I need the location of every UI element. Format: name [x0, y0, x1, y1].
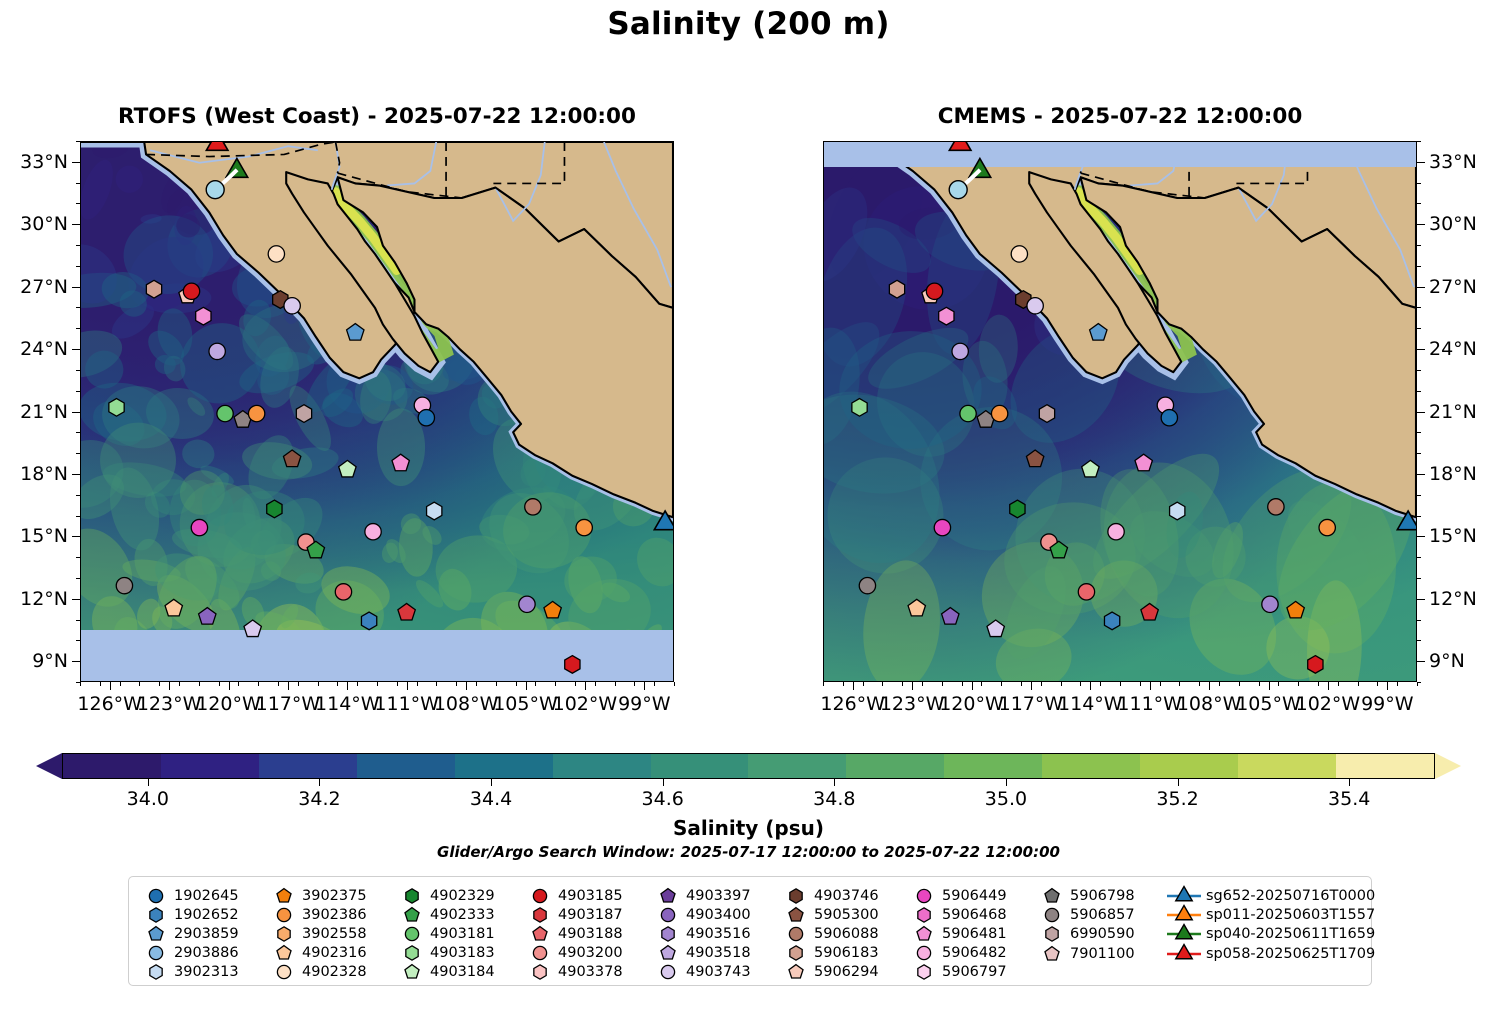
- x-axis-minor-tick: [674, 682, 675, 686]
- argo-float-marker[interactable]: [296, 405, 311, 423]
- y-axis-minor-tick: [1417, 620, 1421, 621]
- x-axis-tick-label: 108°W: [434, 693, 499, 715]
- argo-float-marker[interactable]: [1161, 410, 1177, 426]
- legend-item[interactable]: 3902386: [269, 905, 397, 924]
- colorbar-tick-label: 35.0: [985, 788, 1027, 810]
- legend-item-label: 5906294: [811, 964, 879, 980]
- argo-float-marker[interactable]: [191, 519, 207, 535]
- legend-marker-circle-icon: [141, 886, 171, 905]
- y-axis-minor-tick: [1417, 536, 1421, 537]
- legend-column: 49031854903187490318849032004903378: [525, 886, 653, 976]
- legend-item-label: 4903400: [683, 907, 751, 923]
- argo-float-marker[interactable]: [427, 502, 442, 520]
- x-axis-minor-tick: [981, 682, 982, 686]
- legend-marker-circle-icon: [525, 886, 555, 905]
- x-axis-minor-tick: [1140, 682, 1141, 686]
- glider-position-marker[interactable]: [654, 511, 673, 530]
- legend-item[interactable]: 4903516: [653, 924, 781, 943]
- legend-marker-pentagon-icon: [781, 962, 811, 981]
- x-axis-minor-tick: [882, 682, 883, 686]
- colorbar-tick: [663, 779, 664, 786]
- argo-float-marker[interactable]: [284, 298, 300, 314]
- legend-marker-triangle-line-icon: [1165, 886, 1203, 905]
- x-axis-tick: [1150, 682, 1151, 690]
- legend-marker-circle-icon: [781, 924, 811, 943]
- y-axis-minor-tick: [76, 620, 80, 621]
- legend-item-label: 5906857: [1067, 907, 1135, 923]
- y-axis-minor-tick: [76, 474, 80, 475]
- y-axis-tick-label: 15°N: [1429, 525, 1497, 547]
- legend-item-label: 4903518: [683, 945, 751, 961]
- argo-float-marker[interactable]: [268, 246, 284, 262]
- argo-float-marker[interactable]: [267, 500, 282, 518]
- x-axis-minor-tick: [100, 682, 101, 686]
- argo-float-marker[interactable]: [1135, 454, 1152, 471]
- argo-float-marker[interactable]: [859, 577, 875, 593]
- legend-item[interactable]: 4903397: [653, 886, 781, 905]
- argo-float-marker[interactable]: [576, 519, 592, 535]
- legend-item[interactable]: 1902652: [141, 905, 269, 924]
- colorbar-band: [651, 754, 749, 778]
- argo-float-marker[interactable]: [1010, 500, 1025, 518]
- legend-item-label: 4903187: [555, 907, 623, 923]
- argo-float-marker[interactable]: [1141, 603, 1158, 620]
- x-axis-tick: [1090, 682, 1091, 690]
- legend-item-label: sp040-20250611T1659: [1203, 926, 1375, 942]
- platform-marker-layer[interactable]: [81, 142, 673, 681]
- legend-marker-circle-icon: [269, 905, 299, 924]
- argo-float-marker[interactable]: [544, 601, 561, 618]
- legend-column: 59064495906468590648159064825906797: [909, 886, 1037, 976]
- x-axis-minor-tick: [258, 682, 259, 686]
- argo-float-marker[interactable]: [183, 283, 199, 299]
- legend-marker-pentagon-icon: [269, 943, 299, 962]
- legend-marker-hexagon-icon: [781, 943, 811, 962]
- colorbar-tick-label: 35.2: [1156, 788, 1198, 810]
- x-axis-minor-tick: [417, 682, 418, 686]
- argo-float-marker[interactable]: [960, 405, 976, 421]
- argo-float-marker[interactable]: [1011, 246, 1027, 262]
- argo-float-marker[interactable]: [248, 405, 264, 421]
- argo-float-marker[interactable]: [1090, 324, 1107, 341]
- y-axis-minor-tick: [1417, 661, 1421, 662]
- x-axis-tick-label: 105°W: [493, 693, 558, 715]
- legend-marker-pentagon-icon: [141, 924, 171, 943]
- argo-float-marker[interactable]: [209, 343, 225, 359]
- colorbar-band: [748, 754, 846, 778]
- x-axis-tick: [972, 682, 973, 690]
- y-axis-minor-tick: [76, 495, 80, 496]
- legend-item[interactable]: 4903400: [653, 905, 781, 924]
- x-axis-minor-tick: [555, 682, 556, 686]
- argo-float-marker[interactable]: [335, 584, 351, 600]
- x-axis-tick: [1387, 682, 1388, 690]
- platform-legend[interactable]: 1902645190265229038592903886390231339023…: [128, 876, 1372, 986]
- colorbar-tick-label: 34.4: [470, 788, 512, 810]
- x-axis-minor-tick: [654, 682, 655, 686]
- legend-item[interactable]: sp058-20250625T1709: [1165, 944, 1380, 963]
- legend-item[interactable]: 4903187: [525, 905, 653, 924]
- x-axis-minor-tick: [1120, 682, 1121, 686]
- x-axis-tick-label: 117°W: [999, 693, 1064, 715]
- glider-position-marker[interactable]: [969, 159, 991, 178]
- legend-item[interactable]: 4903743: [653, 962, 781, 981]
- x-axis-minor-tick: [1219, 682, 1220, 686]
- colorbar-tick: [834, 779, 835, 786]
- argo-float-marker[interactable]: [217, 405, 233, 421]
- legend-marker-circle-icon: [909, 886, 939, 905]
- x-axis-tick-label: 126°W: [77, 693, 142, 715]
- argo-float-marker[interactable]: [283, 450, 300, 467]
- glider-position-marker[interactable]: [206, 142, 228, 150]
- argo-float-marker[interactable]: [939, 307, 954, 325]
- y-axis-minor-tick: [76, 453, 80, 454]
- argo-float-marker[interactable]: [365, 524, 381, 540]
- y-axis-tick-label: 27°N: [0, 276, 68, 298]
- x-axis-tick: [1209, 682, 1210, 690]
- x-axis-minor-tick: [1179, 682, 1180, 686]
- colorbar-band: [944, 754, 1042, 778]
- x-axis-minor-tick: [575, 682, 576, 686]
- x-axis-minor-tick: [1100, 682, 1101, 686]
- colorbar-tick-label: 35.4: [1328, 788, 1370, 810]
- colorbar-tick-label: 34.2: [298, 788, 340, 810]
- argo-float-marker[interactable]: [361, 612, 376, 630]
- y-axis-minor-tick: [1417, 141, 1421, 142]
- legend-marker-pentagon-icon: [1037, 886, 1067, 905]
- argo-float-marker[interactable]: [889, 280, 904, 298]
- argo-float-marker[interactable]: [1026, 450, 1043, 467]
- legend-marker-pentagon-icon: [397, 905, 427, 924]
- x-axis-tick-label: 111°W: [374, 693, 439, 715]
- legend-item[interactable]: 5906481: [909, 924, 1037, 943]
- x-axis-minor-tick: [1080, 682, 1081, 686]
- y-axis-minor-tick: [76, 536, 80, 537]
- argo-float-marker[interactable]: [1287, 601, 1304, 618]
- x-axis-tick-label: 99°W: [1361, 693, 1413, 715]
- colorbar-band: [846, 754, 944, 778]
- glider-position-marker[interactable]: [1397, 511, 1416, 530]
- x-axis-tick: [169, 682, 170, 690]
- colorbar-band: [1140, 754, 1238, 778]
- argo-float-marker[interactable]: [852, 399, 867, 417]
- legend-item[interactable]: sg652-20250716T0000: [1165, 886, 1380, 905]
- colorbar-band: [161, 754, 259, 778]
- argo-float-marker[interactable]: [244, 620, 261, 637]
- legend-item-label: 4903181: [427, 926, 495, 942]
- y-axis-tick-label: 24°N: [0, 338, 68, 360]
- glider-position-marker[interactable]: [206, 181, 224, 199]
- x-axis-tick-label: 108°W: [1177, 693, 1242, 715]
- x-axis-minor-tick: [634, 682, 635, 686]
- legend-item-label: 4903378: [555, 964, 623, 980]
- argo-float-marker[interactable]: [926, 283, 942, 299]
- legend-item[interactable]: 5906798: [1037, 886, 1165, 905]
- platform-marker-layer[interactable]: [824, 142, 1416, 681]
- legend-item[interactable]: 4903746: [781, 886, 909, 905]
- legend-item-label: 4903188: [555, 926, 623, 942]
- argo-float-marker[interactable]: [347, 324, 364, 341]
- legend-marker-circle-icon: [269, 962, 299, 981]
- legend-item[interactable]: sp040-20250611T1659: [1165, 925, 1380, 944]
- legend-item-label: 4903743: [683, 964, 751, 980]
- y-axis-minor-tick: [76, 370, 80, 371]
- x-axis-minor-tick: [219, 682, 220, 686]
- y-axis-minor-tick: [1417, 412, 1421, 413]
- argo-float-marker[interactable]: [196, 307, 211, 325]
- legend-item[interactable]: 4902316: [269, 943, 397, 962]
- argo-float-marker[interactable]: [1027, 298, 1043, 314]
- y-axis-minor-tick: [76, 516, 80, 517]
- legend-marker-hexagon-icon: [909, 962, 939, 981]
- x-axis-minor-tick: [942, 682, 943, 686]
- legend-item[interactable]: 4903518: [653, 943, 781, 962]
- argo-float-marker[interactable]: [1078, 584, 1094, 600]
- argo-float-marker[interactable]: [1108, 524, 1124, 540]
- x-axis-tick: [347, 682, 348, 690]
- argo-float-marker[interactable]: [146, 280, 161, 298]
- legend-marker-hexagon-icon: [653, 924, 683, 943]
- legend-item[interactable]: 5905300: [781, 905, 909, 924]
- colorbar-tick: [491, 779, 492, 786]
- legend-marker-pentagon-icon: [397, 962, 427, 981]
- y-axis-minor-tick: [1417, 495, 1421, 496]
- x-axis-minor-tick: [436, 682, 437, 686]
- colorbar-tick: [319, 779, 320, 786]
- x-axis-minor-tick: [615, 682, 616, 686]
- x-axis-tick-label: 102°W: [1296, 693, 1361, 715]
- y-axis-minor-tick: [1417, 432, 1421, 433]
- legend-marker-pentagon-icon: [781, 905, 811, 924]
- legend-item[interactable]: 4903185: [525, 886, 653, 905]
- colorbar-tick-label: 34.0: [127, 788, 169, 810]
- x-axis-minor-tick: [962, 682, 963, 686]
- legend-item-label: 4902333: [427, 907, 495, 923]
- legend-item[interactable]: 4903183: [397, 943, 525, 962]
- x-axis-tick-label: 123°W: [880, 693, 945, 715]
- legend-marker-hexagon-icon: [1037, 925, 1067, 944]
- argo-float-marker[interactable]: [1170, 502, 1185, 520]
- legend-item-label: 3902313: [171, 964, 239, 980]
- colorbar-band: [63, 754, 161, 778]
- legend-item-label: 5906482: [939, 945, 1007, 961]
- legend-item[interactable]: 2903886: [141, 943, 269, 962]
- argo-float-marker[interactable]: [565, 656, 580, 674]
- x-axis-tick: [1328, 682, 1329, 690]
- legend-item[interactable]: 4902328: [269, 962, 397, 981]
- legend-item[interactable]: 5906482: [909, 943, 1037, 962]
- colorbar-band: [1042, 754, 1140, 778]
- legend-item[interactable]: 5906797: [909, 962, 1037, 981]
- x-axis-minor-tick: [496, 682, 497, 686]
- legend-item[interactable]: 4903184: [397, 962, 525, 981]
- x-axis-tick: [1269, 682, 1270, 690]
- argo-float-marker[interactable]: [1082, 460, 1099, 477]
- colorbar-tick: [1349, 779, 1350, 786]
- legend-item[interactable]: 3902313: [141, 962, 269, 981]
- x-axis-minor-tick: [238, 682, 239, 686]
- argo-float-marker[interactable]: [116, 577, 132, 593]
- argo-float-marker[interactable]: [392, 454, 409, 471]
- argo-float-marker[interactable]: [525, 499, 541, 515]
- map-panel-cmems[interactable]: [823, 141, 1417, 682]
- legend-item[interactable]: 4903378: [525, 962, 653, 981]
- colorbar-tick-label: 34.8: [813, 788, 855, 810]
- y-axis-minor-tick: [1417, 682, 1421, 683]
- glider-position-marker[interactable]: [226, 159, 248, 178]
- x-axis-tick: [526, 682, 527, 690]
- map-panel-rtofs[interactable]: [80, 141, 674, 682]
- argo-float-marker[interactable]: [339, 460, 356, 477]
- legend-item-label: 5906449: [939, 888, 1007, 904]
- x-axis-minor-tick: [1298, 682, 1299, 686]
- legend-item[interactable]: 5906088: [781, 924, 909, 943]
- legend-item-label: sg652-20250716T0000: [1203, 888, 1375, 904]
- glider-position-marker[interactable]: [949, 181, 967, 199]
- argo-float-marker[interactable]: [398, 603, 415, 620]
- legend-column: 39023753902386390255849023164902328: [269, 886, 397, 976]
- legend-item[interactable]: 1902645: [141, 886, 269, 905]
- legend-item[interactable]: 4903200: [525, 943, 653, 962]
- legend-item-label: 5906797: [939, 964, 1007, 980]
- argo-float-marker[interactable]: [199, 608, 216, 625]
- legend-marker-hexagon-icon: [141, 962, 171, 981]
- glider-position-marker[interactable]: [949, 142, 971, 150]
- legend-item[interactable]: 6990590: [1037, 925, 1165, 944]
- legend-item[interactable]: 4903181: [397, 924, 525, 943]
- y-axis-minor-tick: [76, 557, 80, 558]
- legend-item-label: 6990590: [1067, 926, 1135, 942]
- y-axis-tick-label: 30°N: [1429, 213, 1497, 235]
- legend-item[interactable]: 4903188: [525, 924, 653, 943]
- colorbar-gradient: [62, 753, 1435, 779]
- argo-float-marker[interactable]: [942, 608, 959, 625]
- x-axis-tick: [853, 682, 854, 690]
- y-axis-minor-tick: [76, 162, 80, 163]
- x-axis-minor-tick: [476, 682, 477, 686]
- argo-float-marker[interactable]: [1262, 596, 1278, 612]
- y-axis-minor-tick: [1417, 203, 1421, 204]
- x-axis-tick: [288, 682, 289, 690]
- legend-item[interactable]: 5906294: [781, 962, 909, 981]
- panel-title-cmems: CMEMS - 2025-07-22 12:00:00: [823, 104, 1417, 129]
- legend-item-label: 5906183: [811, 945, 879, 961]
- legend-item[interactable]: 5906857: [1037, 905, 1165, 924]
- x-axis-minor-tick: [1239, 682, 1240, 686]
- legend-item-label: 2903886: [171, 945, 239, 961]
- y-axis-minor-tick: [1417, 599, 1421, 600]
- x-axis-minor-tick: [199, 682, 200, 686]
- y-axis-minor-tick: [76, 183, 80, 184]
- colorbar: [36, 753, 1461, 779]
- legend-item[interactable]: 2903859: [141, 924, 269, 943]
- legend-item[interactable]: 3902558: [269, 924, 397, 943]
- y-axis-minor-tick: [76, 682, 80, 683]
- legend-marker-pentagon-icon: [525, 924, 555, 943]
- legend-item[interactable]: sp011-20250603T1557: [1165, 905, 1380, 924]
- argo-float-marker[interactable]: [1104, 612, 1119, 630]
- legend-marker-hexagon-icon: [141, 905, 171, 924]
- y-axis-tick-label: 21°N: [0, 401, 68, 423]
- colorbar-band: [1238, 754, 1336, 778]
- x-axis-minor-tick: [377, 682, 378, 686]
- legend-marker-triangle-line-icon: [1165, 906, 1203, 925]
- y-axis-minor-tick: [1417, 328, 1421, 329]
- argo-float-marker[interactable]: [987, 620, 1004, 637]
- argo-float-marker[interactable]: [1308, 656, 1323, 674]
- x-axis-tick-label: 120°W: [196, 693, 261, 715]
- argo-float-marker[interactable]: [519, 596, 535, 612]
- y-axis-minor-tick: [1417, 307, 1421, 308]
- y-axis-tick-label: 33°N: [0, 151, 68, 173]
- y-axis-minor-tick: [76, 224, 80, 225]
- legend-marker-circle-icon: [653, 962, 683, 981]
- argo-float-marker[interactable]: [952, 343, 968, 359]
- x-axis-minor-tick: [278, 682, 279, 686]
- argo-float-marker[interactable]: [109, 399, 124, 417]
- argo-float-marker[interactable]: [165, 599, 182, 616]
- legend-item[interactable]: 5906183: [781, 943, 909, 962]
- colorbar-extend-min: [36, 753, 62, 779]
- legend-item-label: 7901100: [1067, 946, 1135, 962]
- legend-item-label: sp058-20250625T1709: [1203, 946, 1375, 962]
- argo-float-marker[interactable]: [1319, 519, 1335, 535]
- legend-marker-pentagon-icon: [653, 886, 683, 905]
- y-axis-tick-label: 24°N: [1429, 338, 1497, 360]
- legend-item[interactable]: 7901100: [1037, 944, 1165, 963]
- legend-item-label: 2903859: [171, 926, 239, 942]
- x-axis-minor-tick: [357, 682, 358, 686]
- legend-item-label: 4903200: [555, 945, 623, 961]
- y-axis-tick-label: 9°N: [1429, 650, 1497, 672]
- argo-float-marker[interactable]: [418, 410, 434, 426]
- legend-marker-hexagon-icon: [909, 905, 939, 924]
- x-axis-minor-tick: [1318, 682, 1319, 686]
- y-axis-tick-label: 12°N: [0, 588, 68, 610]
- argo-float-marker[interactable]: [991, 405, 1007, 421]
- x-axis-tick: [110, 682, 111, 690]
- x-axis-minor-tick: [843, 682, 844, 686]
- legend-item-label: 5906088: [811, 926, 879, 942]
- legend-column: 49037465905300590608859061835906294: [781, 886, 909, 976]
- x-axis-minor-tick: [823, 682, 824, 686]
- y-axis-minor-tick: [76, 599, 80, 600]
- legend-item[interactable]: 5906449: [909, 886, 1037, 905]
- x-axis-tick-label: 123°W: [137, 693, 202, 715]
- legend-item[interactable]: 5906468: [909, 905, 1037, 924]
- colorbar-tick: [148, 779, 149, 786]
- y-axis-tick-label: 15°N: [0, 525, 68, 547]
- legend-item[interactable]: 4902329: [397, 886, 525, 905]
- x-axis-minor-tick: [516, 682, 517, 686]
- legend-marker-hexagon-icon: [525, 962, 555, 981]
- legend-marker-triangle-line-icon: [1165, 925, 1203, 944]
- argo-float-marker[interactable]: [908, 599, 925, 616]
- colorbar-band: [357, 754, 455, 778]
- legend-item[interactable]: 4902333: [397, 905, 525, 924]
- argo-float-marker[interactable]: [1039, 405, 1054, 423]
- argo-float-marker[interactable]: [1268, 499, 1284, 515]
- x-axis-tick-label: 114°W: [315, 693, 380, 715]
- y-axis-minor-tick: [76, 432, 80, 433]
- legend-item-label: 1902645: [171, 888, 239, 904]
- y-axis-tick-label: 12°N: [1429, 588, 1497, 610]
- legend-item[interactable]: 3902375: [269, 886, 397, 905]
- x-axis-minor-tick: [1199, 682, 1200, 686]
- argo-float-marker[interactable]: [934, 519, 950, 535]
- y-axis-minor-tick: [76, 266, 80, 267]
- x-axis-minor-tick: [397, 682, 398, 686]
